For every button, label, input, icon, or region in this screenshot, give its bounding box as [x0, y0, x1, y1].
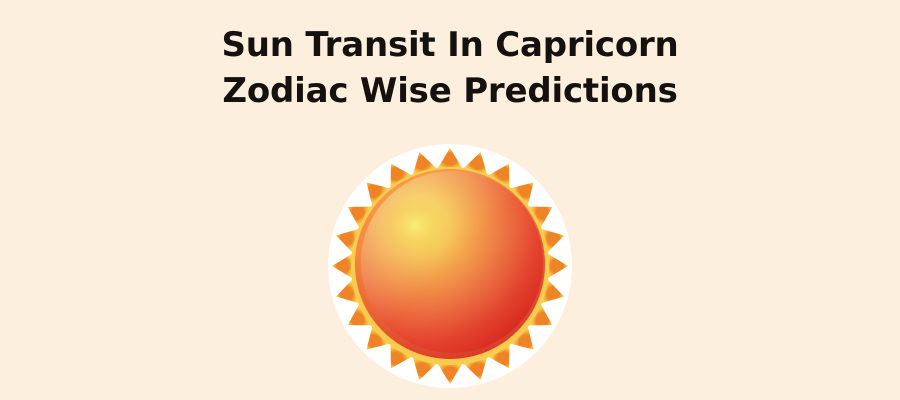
sun-illustration — [328, 144, 572, 388]
sun-sphere-gloss — [361, 171, 543, 353]
page-canvas: Sun Transit In Capricorn Zodiac Wise Pre… — [0, 0, 900, 400]
sun-highlight — [381, 196, 449, 256]
page-title-line-1: Sun Transit In Capricorn — [0, 22, 900, 68]
page-title: Sun Transit In Capricorn Zodiac Wise Pre… — [0, 22, 900, 114]
sun-icon — [328, 144, 572, 388]
page-title-line-2: Zodiac Wise Predictions — [0, 68, 900, 114]
